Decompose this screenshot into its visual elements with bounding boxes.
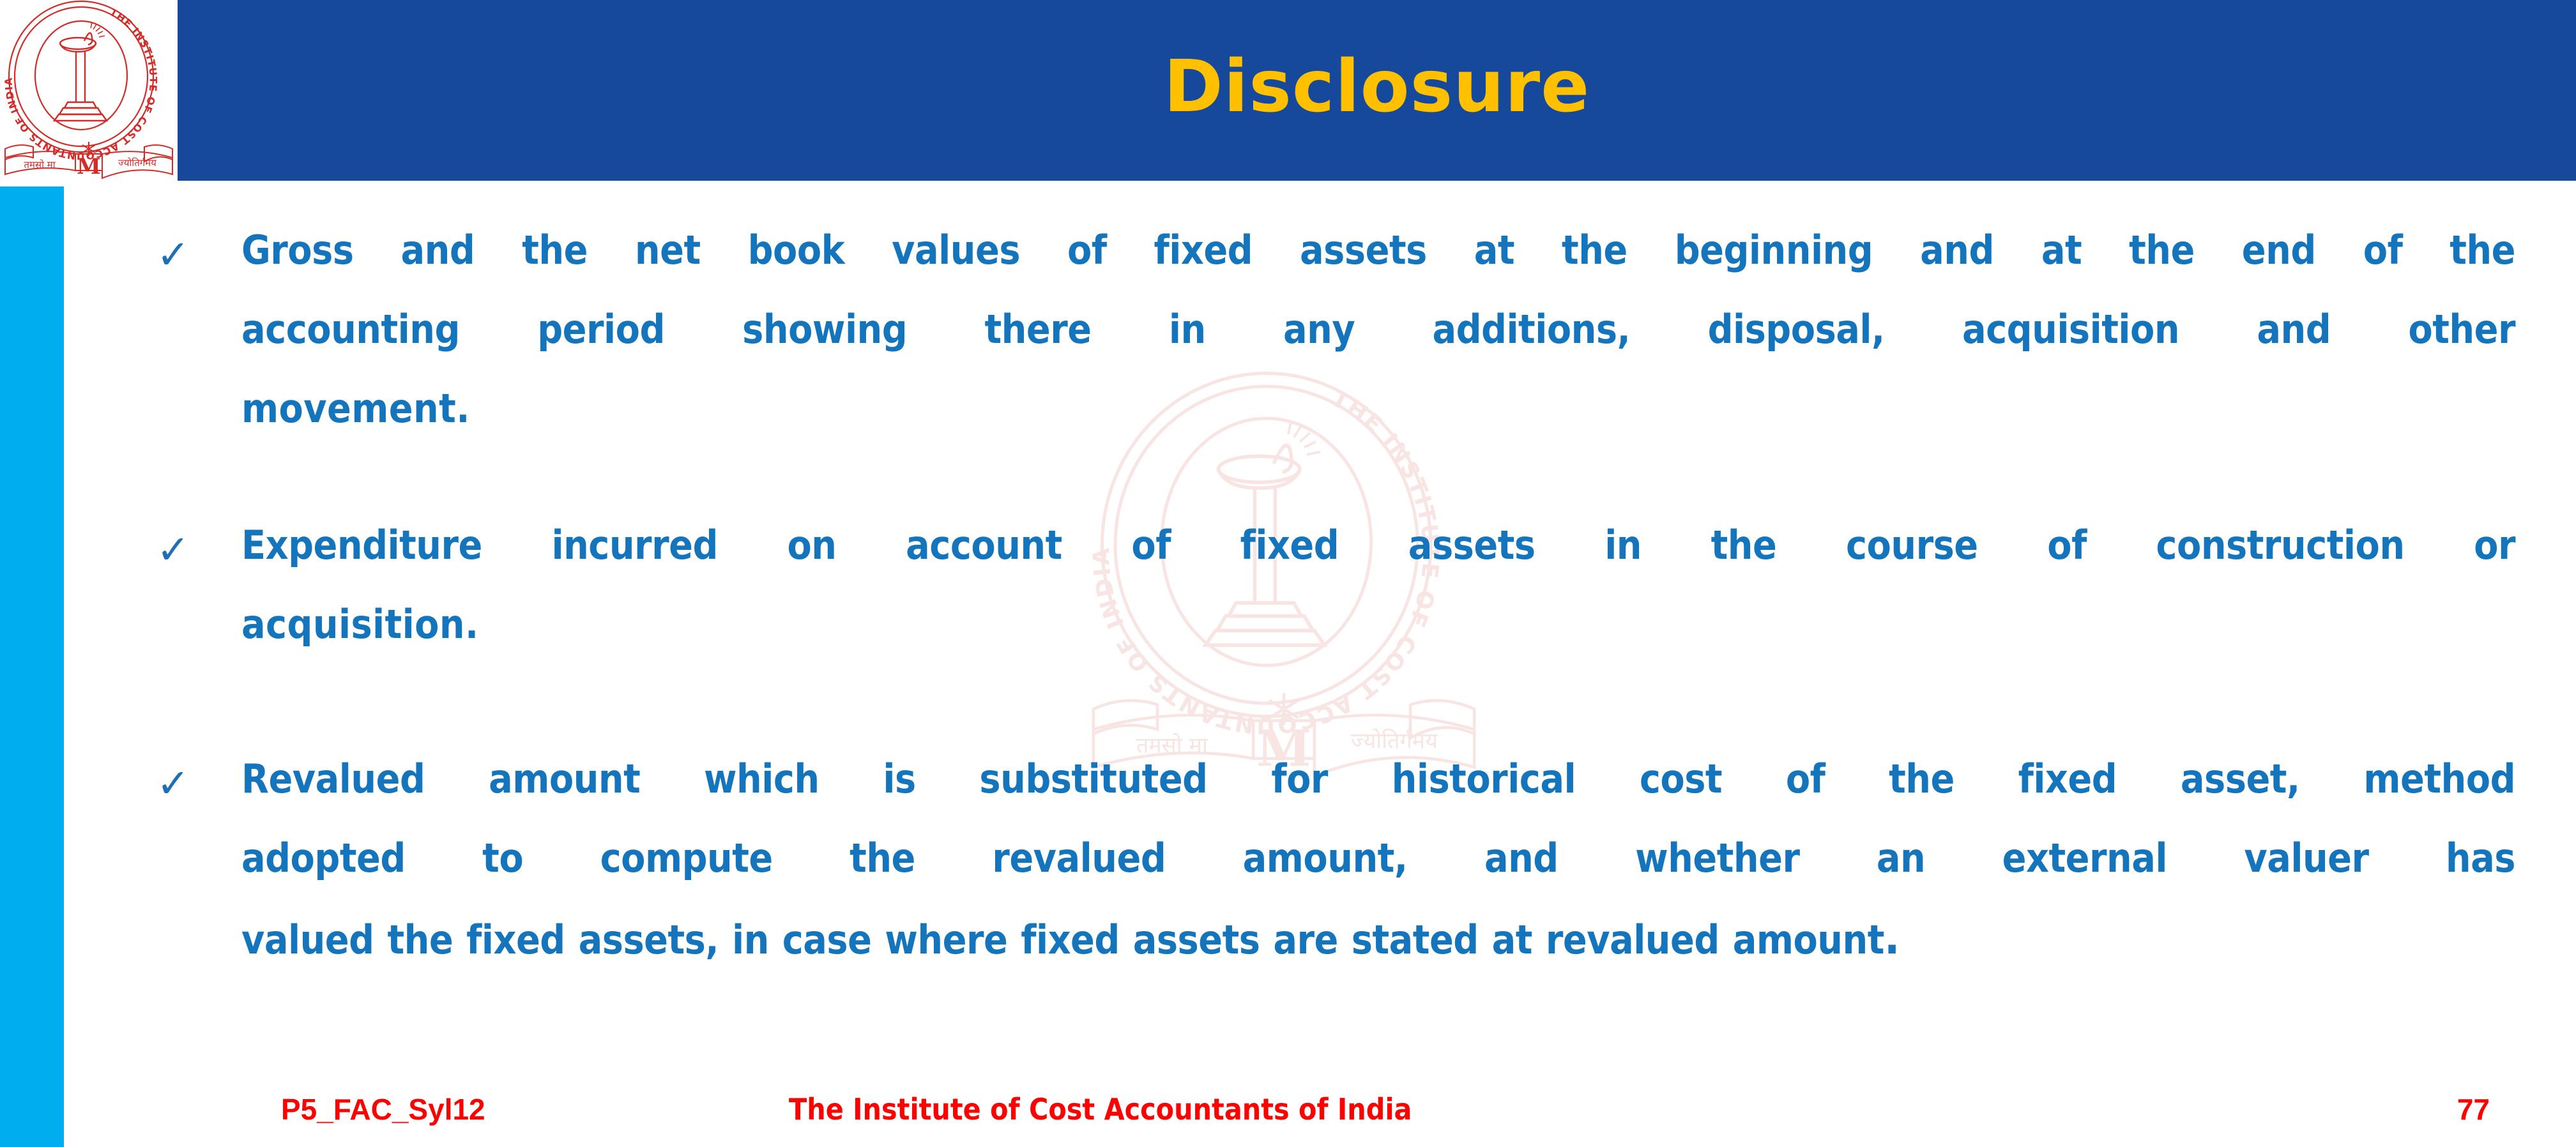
text-line: accounting period showing there in any a… [241, 290, 2515, 369]
text-line: adopted to compute the revalued amount, … [241, 819, 2515, 898]
svg-text:THE INSTITUTE OF COST ACCOUNTA: THE INSTITUTE OF COST ACCOUNTANTS OF IND… [3, 6, 159, 162]
title-bar: Disclosure [178, 0, 2576, 181]
check-mark-icon: ✓ [156, 235, 190, 275]
text-line: acquisition. [241, 585, 2515, 664]
trailing-period: . [1884, 911, 1900, 964]
footer-page-number: 77 [2457, 1095, 2490, 1124]
list-item-text: Expenditure incurred on account of fixed… [241, 506, 2515, 664]
svg-text:तमसो मा: तमसो मा [24, 159, 56, 171]
svg-text:M: M [77, 154, 101, 179]
text-line: valued the fixed assets, in case where f… [241, 916, 1884, 963]
check-mark-icon: ✓ [156, 530, 190, 570]
text-line: Revalued amount which is substituted for… [241, 740, 2515, 819]
bullet-list: ✓ Gross and the net book values of fixed… [0, 192, 2576, 1041]
svg-text:ज्योतिर्गमय: ज्योतिर्गमय [118, 157, 156, 169]
page-title: Disclosure [1164, 51, 1590, 123]
text-line: Gross and the net book values of fixed a… [241, 211, 2515, 290]
list-item-text: Gross and the net book values of fixed a… [241, 211, 2515, 448]
footer-organisation: The Institute of Cost Accountants of Ind… [789, 1095, 1412, 1124]
list-item-text: Revalued amount which is substituted for… [241, 740, 2515, 980]
check-mark-icon: ✓ [156, 764, 190, 803]
text-line: Expenditure incurred on account of fixed… [241, 506, 2515, 585]
slide-canvas: Disclosure THE INSTITUTE OF COST ACCOUNT… [0, 0, 2576, 1147]
footer-subject-code: P5_FAC_Syl12 [281, 1095, 485, 1124]
institute-logo: THE INSTITUTE OF COST ACCOUNTANTS OF IND… [0, 0, 178, 185]
text-line-with-trailing-dot: valued the fixed assets, in case where f… [241, 898, 2515, 980]
text-line: movement. [241, 369, 2515, 448]
footer: P5_FAC_Syl12 The Institute of Cost Accou… [0, 1070, 2576, 1147]
